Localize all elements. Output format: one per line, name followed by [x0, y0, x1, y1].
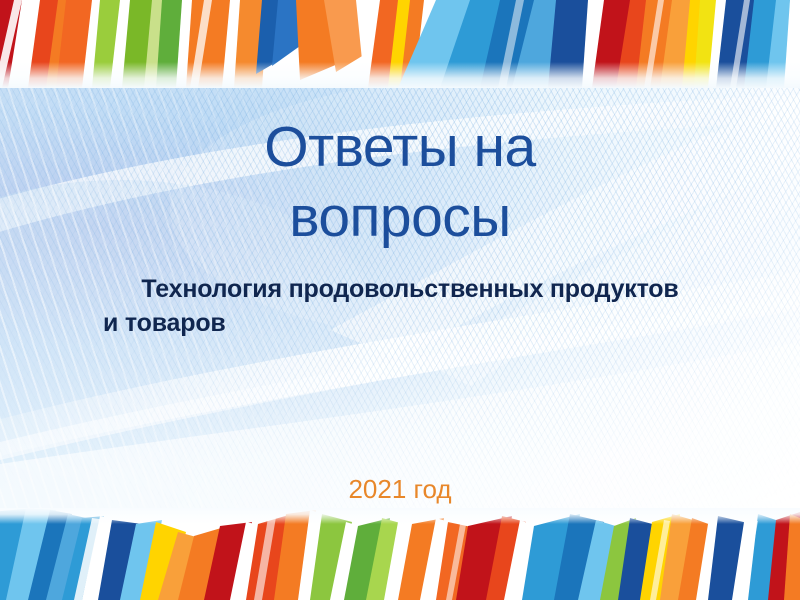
bottom-decorative-band: [0, 508, 800, 600]
bottom-shard-artwork: [0, 508, 800, 600]
top-decorative-band: [0, 0, 800, 88]
slide-subtitle: Технология продовольственных продуктов и…: [70, 272, 750, 340]
top-shard-artwork: [0, 0, 800, 88]
title-line-2: вопросы: [100, 182, 700, 252]
title-line-1: Ответы на: [100, 112, 700, 182]
slide-title: Ответы на вопросы: [100, 112, 700, 252]
slide-year: 2021 год: [0, 474, 800, 504]
presentation-slide: Ответы на вопросы Технология продовольст…: [0, 0, 800, 600]
subtitle-line-1: Технология продовольственных продуктов: [70, 272, 750, 306]
subtitle-line-2: и товаров: [70, 306, 750, 340]
